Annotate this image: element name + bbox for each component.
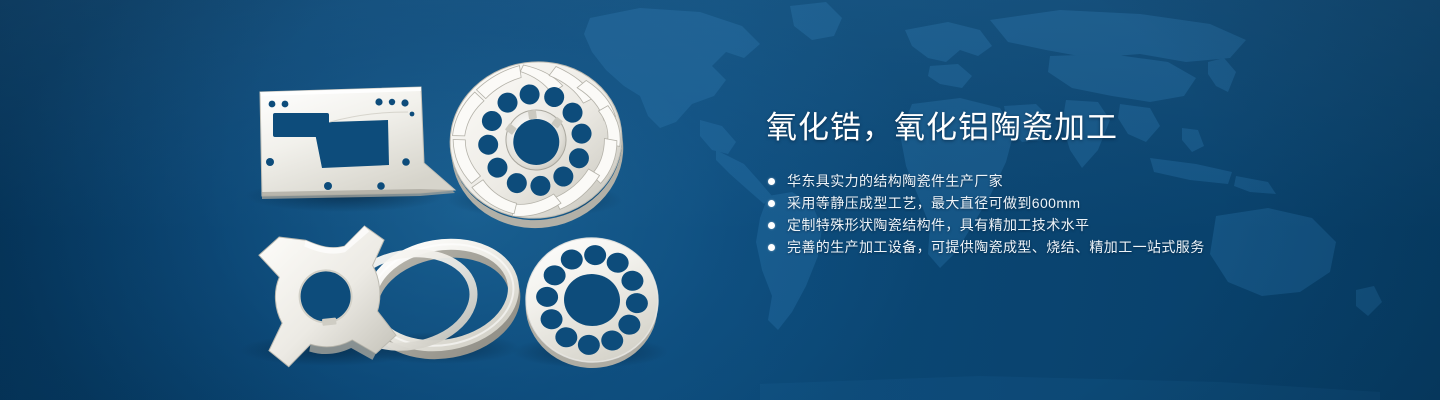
list-item-label: 华东具实力的结构陶瓷件生产厂家	[787, 170, 1003, 192]
list-item: 华东具实力的结构陶瓷件生产厂家	[768, 170, 1386, 192]
bullet-dot-icon	[768, 222, 775, 229]
list-item: 定制特殊形状陶瓷结构件，具有精加工技术水平	[768, 214, 1386, 236]
ceramic-products-image	[0, 0, 720, 400]
bullet-dot-icon	[768, 244, 775, 251]
ceramic-plate-part	[260, 87, 455, 199]
feature-list: 华东具实力的结构陶瓷件生产厂家 采用等静压成型工艺，最大直径可做到600mm 定…	[766, 170, 1386, 258]
list-item-label: 完善的生产加工设备，可提供陶瓷成型、烧结、精加工一站式服务	[787, 236, 1205, 258]
list-item-label: 定制特殊形状陶瓷结构件，具有精加工技术水平	[787, 214, 1089, 236]
bullet-dot-icon	[768, 200, 775, 207]
bullet-dot-icon	[768, 178, 775, 185]
banner-copy: 氧化锆，氧化铝陶瓷加工 华东具实力的结构陶瓷件生产厂家 采用等静压成型工艺，最大…	[766, 108, 1386, 258]
list-item: 完善的生产加工设备，可提供陶瓷成型、烧结、精加工一站式服务	[768, 236, 1386, 258]
list-item: 采用等静压成型工艺，最大直径可做到600mm	[768, 192, 1386, 214]
hero-banner: 氧化锆，氧化铝陶瓷加工 华东具实力的结构陶瓷件生产厂家 采用等静压成型工艺，最大…	[0, 0, 1440, 400]
page-title: 氧化锆，氧化铝陶瓷加工	[766, 108, 1386, 148]
ceramic-cross-rotor-part	[257, 224, 398, 371]
list-item-label: 采用等静压成型工艺，最大直径可做到600mm	[787, 192, 1080, 214]
